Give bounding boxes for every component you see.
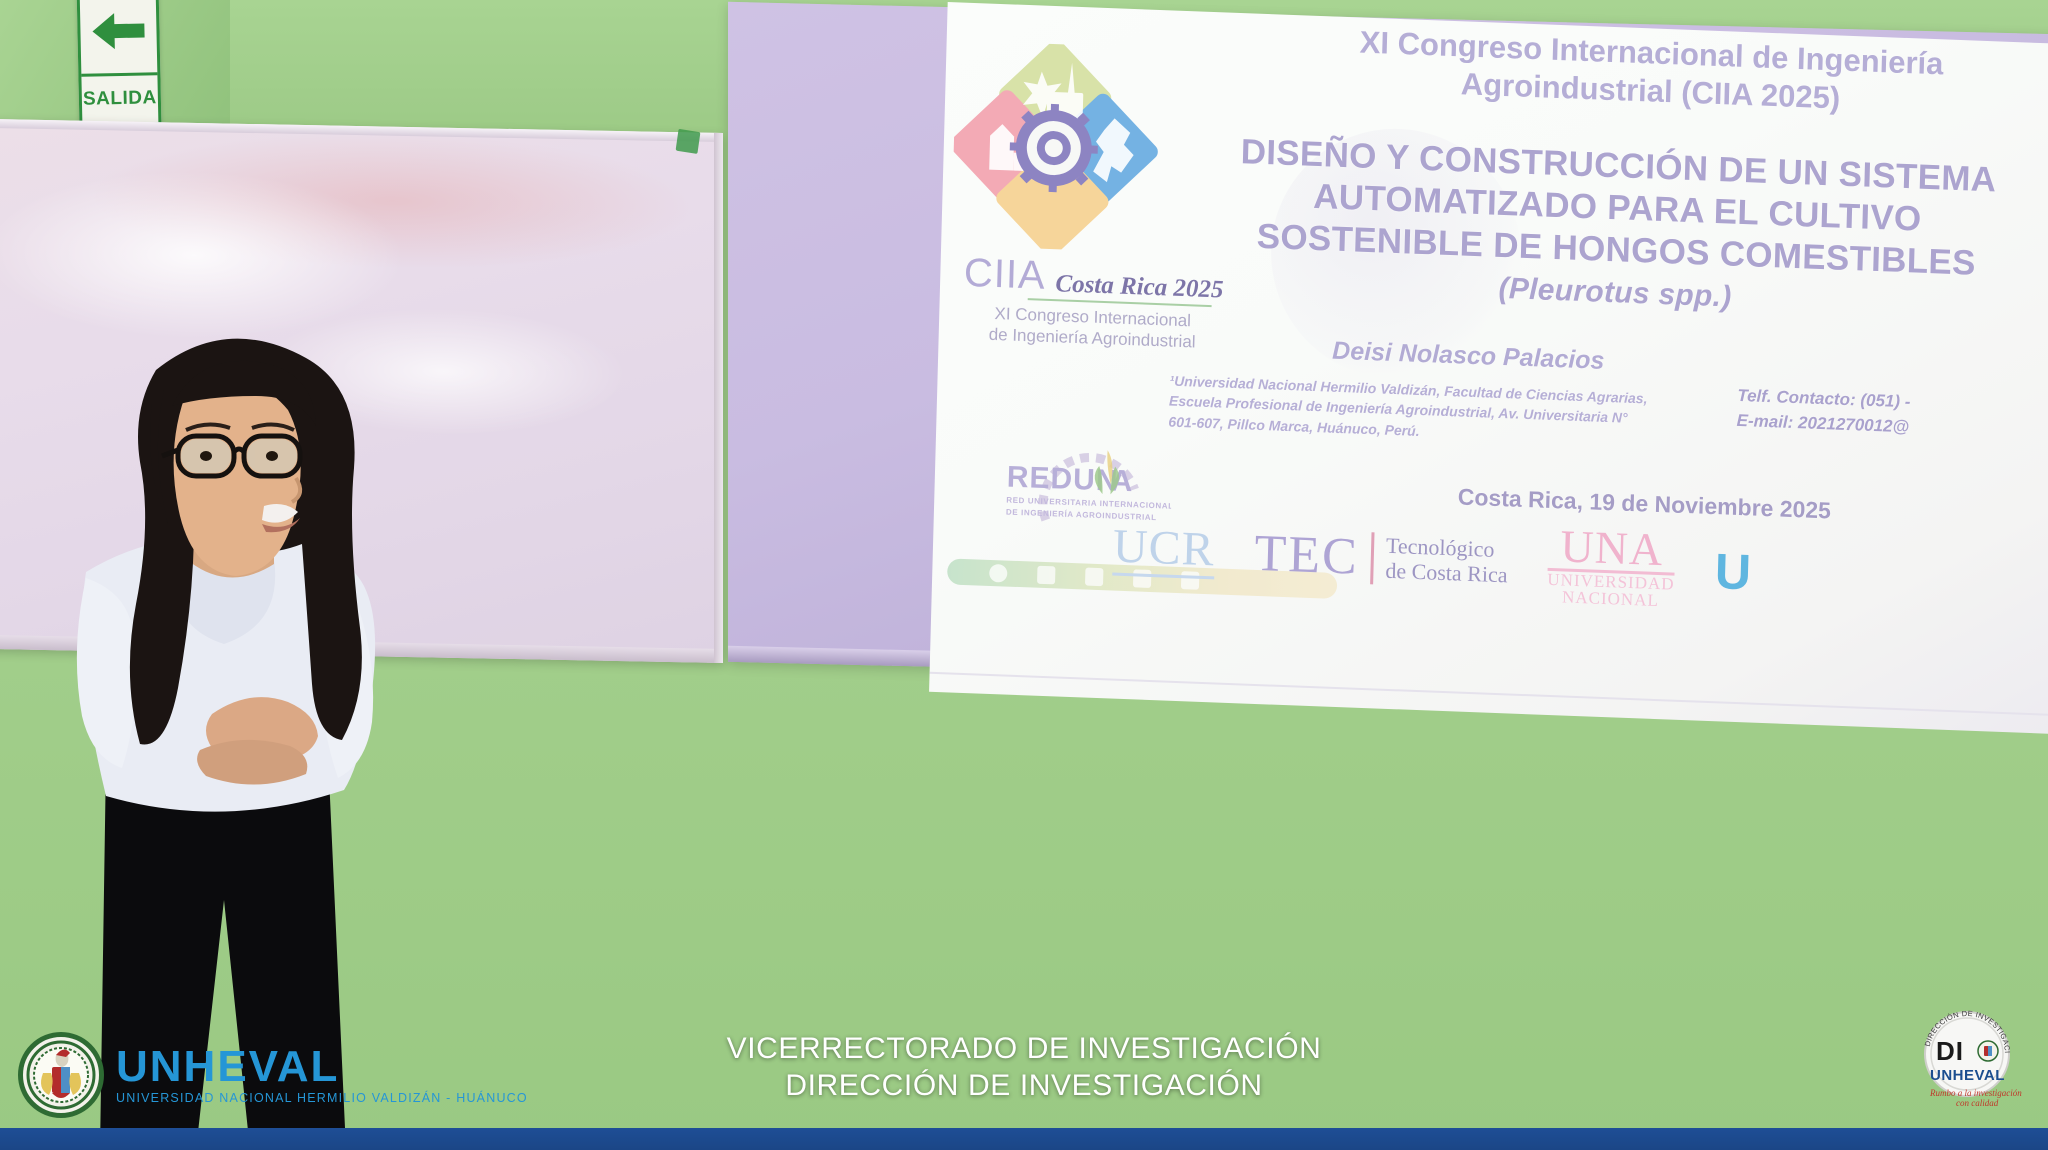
di-seal-slogan-2: con calidad: [1956, 1098, 1999, 1108]
unheval-crest-icon: [18, 1032, 104, 1118]
di-seal-org: UNHEVAL: [1930, 1067, 2005, 1084]
sponsor-ucr-label: UCR: [1112, 522, 1215, 579]
unheval-logo: UNHEVAL UNIVERSIDAD NACIONAL HERMILIO VA…: [18, 1032, 528, 1118]
sponsor-tec: TEC Tecnológico de Costa Rica: [1254, 528, 1509, 589]
sponsor-ucr: UCR: [1112, 522, 1215, 579]
unheval-tagline: UNIVERSIDAD NACIONAL HERMILIO VALDIZÁN -…: [116, 1091, 528, 1105]
sponsor-tec-divider: [1370, 532, 1374, 584]
sponsor-tec-sub-line2: de Costa Rica: [1385, 559, 1508, 588]
ciia-word: CIIA: [963, 253, 1046, 296]
unheval-name: UNHEVAL: [116, 1045, 528, 1089]
exit-sign-label: SALIDA: [81, 75, 158, 123]
strip-icon-2: [1037, 566, 1055, 585]
slide-title: DISEÑO Y CONSTRUCCIÓN DE UN SISTEMA AUTO…: [1110, 126, 2048, 330]
slide-affiliation: ¹Universidad Nacional Hermilio Valdizán,…: [1168, 371, 1649, 450]
di-seal-slogan: Rumbo a la investigación: [1929, 1088, 2022, 1098]
strip-icon-1: [989, 564, 1007, 583]
bottom-blue-bar: [0, 1128, 2048, 1150]
presentation-photo: SALIDA: [0, 0, 2048, 1150]
whiteboard-green-clip: [676, 129, 701, 154]
sponsor-tec-sub: Tecnológico de Costa Rica: [1385, 534, 1508, 588]
exit-sign: SALIDA: [77, 0, 162, 127]
di-seal-initials: DI: [1936, 1036, 1964, 1066]
sponsor-una-sub-line2: NACIONAL: [1547, 588, 1675, 611]
strip-icon-3: [1085, 568, 1103, 587]
sponsor-last-label: U: [1714, 546, 1751, 597]
projected-slide: CIIA Costa Rica 2025 XI Congreso Interna…: [929, 2, 2048, 736]
presenter-person: [60, 310, 480, 1150]
sponsor-una-label: UNA: [1548, 524, 1676, 575]
di-unheval-seal: DIRECCIÓN DE INVESTIGACIÓN DI UNHEVAL Ru…: [1908, 1008, 2026, 1112]
exit-arrow-left-icon: [80, 0, 158, 77]
slide-contact: Telf. Contacto: (051) - E-mail: 20212700…: [1736, 384, 2048, 448]
sponsor-una: UNA UNIVERSIDAD NACIONAL: [1547, 524, 1676, 611]
sponsor-last: U: [1714, 546, 1751, 597]
sponsor-tec-label: TEC: [1254, 528, 1360, 584]
